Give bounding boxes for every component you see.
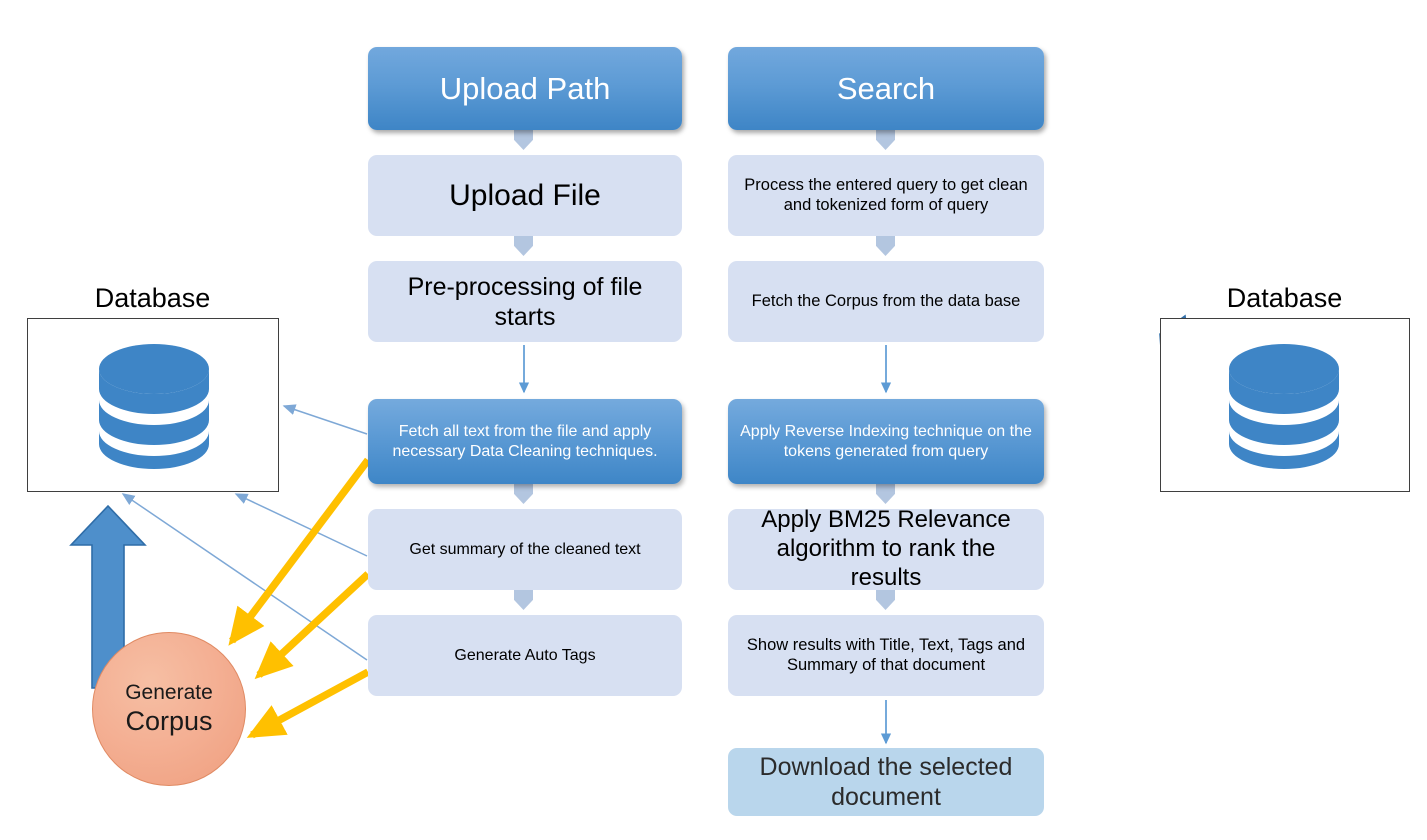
arrow-summary-to-corpus [259, 574, 368, 675]
upload-path-header[interactable]: Upload Path [368, 47, 682, 130]
corpus-line-2: Corpus [125, 706, 212, 737]
database-left-label: Database [30, 283, 275, 314]
generate-corpus-node[interactable]: Generate Corpus [92, 632, 246, 786]
search-step-fetch-corpus[interactable]: Fetch the Corpus from the data base [728, 261, 1044, 342]
arrow-summary-to-database [236, 494, 367, 556]
upload-step-preprocessing[interactable]: Pre-processing of file starts [368, 261, 682, 342]
database-right-label: Database [1162, 283, 1407, 314]
connector-chevron-search-2 [876, 235, 895, 256]
connector-chevron-upload-4 [514, 589, 533, 610]
search-step-download[interactable]: Download the selected document [728, 748, 1044, 816]
database-cylinder-icon-left [98, 343, 210, 469]
arrow-to-corpus-group [232, 460, 368, 735]
search-step-bm25[interactable]: Apply BM25 Relevance algorithm to rank t… [728, 509, 1044, 590]
search-step-process-query[interactable]: Process the entered query to get clean a… [728, 155, 1044, 236]
connector-chevron-search-1 [876, 129, 895, 150]
connector-chevron-upload-3 [514, 483, 533, 504]
upload-step-auto-tags[interactable]: Generate Auto Tags [368, 615, 682, 696]
flowchart-canvas: Database Database Generate Corpus Upload… [0, 0, 1427, 840]
search-header[interactable]: Search [728, 47, 1044, 130]
connector-chevron-upload-1 [514, 129, 533, 150]
arrow-cleaning-to-database [284, 406, 367, 434]
upload-step-summary[interactable]: Get summary of the cleaned text [368, 509, 682, 590]
connector-chevron-upload-2 [514, 235, 533, 256]
corpus-line-1: Generate [125, 681, 213, 705]
upload-step-fetch-clean[interactable]: Fetch all text from the file and apply n… [368, 399, 682, 484]
connector-chevron-search-3 [876, 483, 895, 504]
search-step-reverse-indexing[interactable]: Apply Reverse Indexing technique on the … [728, 399, 1044, 484]
arrow-tags-to-corpus [252, 672, 368, 735]
upload-step-upload-file[interactable]: Upload File [368, 155, 682, 236]
database-cylinder-icon-right [1228, 343, 1340, 469]
search-step-show-results[interactable]: Show results with Title, Text, Tags and … [728, 615, 1044, 696]
